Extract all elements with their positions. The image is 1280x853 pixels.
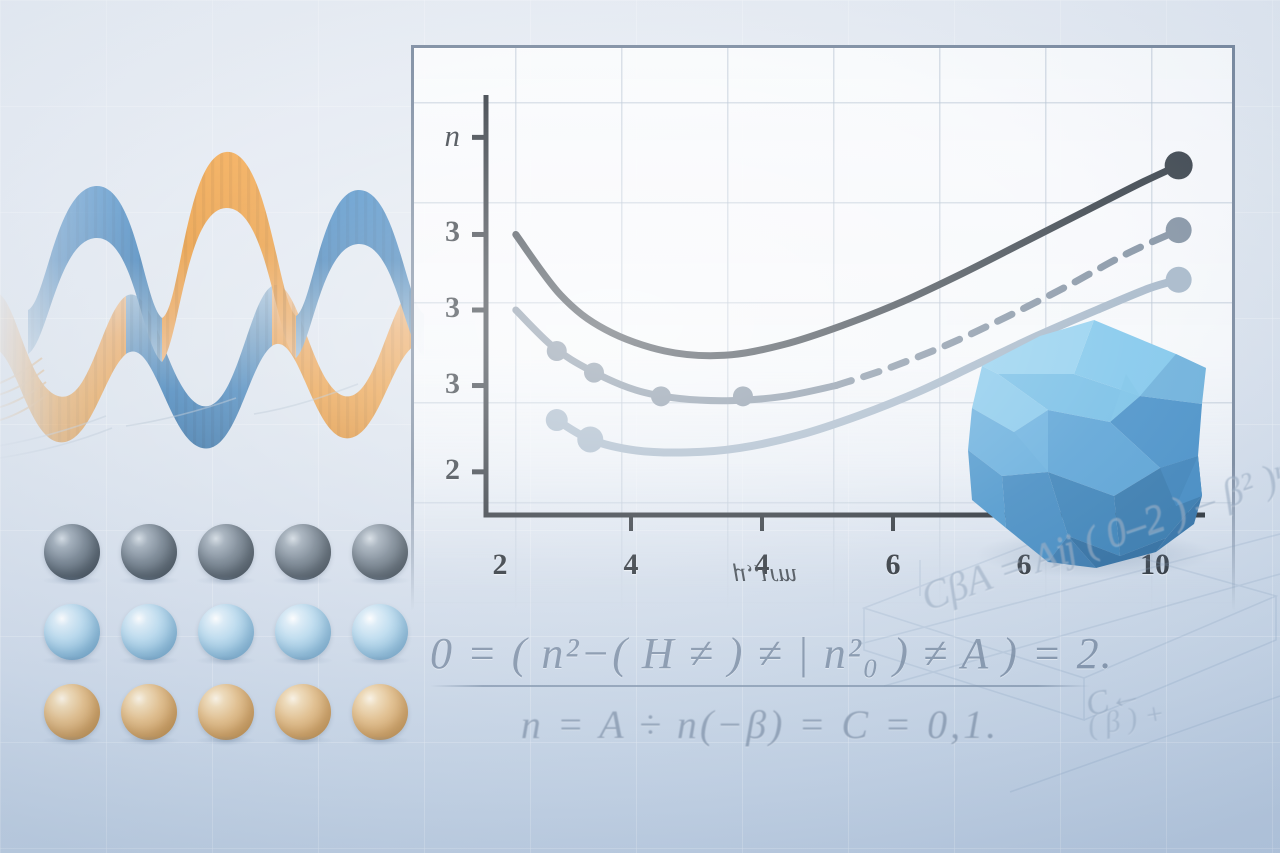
- sphere-gold: [121, 684, 177, 740]
- sphere-dark: [121, 524, 177, 580]
- sphere-dark: [198, 524, 254, 580]
- sphere-dark: [275, 524, 331, 580]
- equation-fraction-bar: [430, 685, 1090, 687]
- sphere-light: [44, 604, 100, 660]
- x-tick-label: 4: [608, 550, 654, 580]
- equation-block: 0 = ( n²−( H ≠ ) ≠ | n²₀ ) ≠ A ) = 2. n …: [430, 628, 1090, 748]
- sphere-dark: [44, 524, 100, 580]
- sphere-array: [44, 524, 408, 740]
- equation-numerator: 0 = ( n²−( H ≠ ) ≠ | n²₀ ) ≠ A ) = 2.: [430, 628, 1090, 679]
- y-tick-label: 3: [420, 369, 460, 399]
- sphere-gold: [44, 684, 100, 740]
- sphere-dark: [352, 524, 408, 580]
- chart-x-axis-title: μ,,ıɾm: [733, 562, 797, 592]
- y-tick-label: 3: [420, 293, 460, 323]
- sphere-gold: [352, 684, 408, 740]
- sphere-row-light: [44, 604, 408, 660]
- y-tick-label: n: [420, 120, 460, 151]
- sphere-light: [275, 604, 331, 660]
- sphere-row-gold: [44, 684, 408, 740]
- sphere-light: [121, 604, 177, 660]
- wave-packet-figure: [0, 96, 426, 466]
- sphere-gold: [275, 684, 331, 740]
- x-tick-label: 2: [477, 550, 523, 580]
- y-tick-label: 3: [420, 217, 460, 247]
- sphere-gold: [198, 684, 254, 740]
- sphere-row-dark: [44, 524, 408, 580]
- equation-denominator: n = A ÷ n(−β) = C = 0,1.: [430, 701, 1090, 748]
- sphere-light: [352, 604, 408, 660]
- y-tick-label: 2: [420, 455, 460, 485]
- sphere-light: [198, 604, 254, 660]
- illustration-canvas: n3332 2446610 μ,,ıɾm: [0, 0, 1280, 853]
